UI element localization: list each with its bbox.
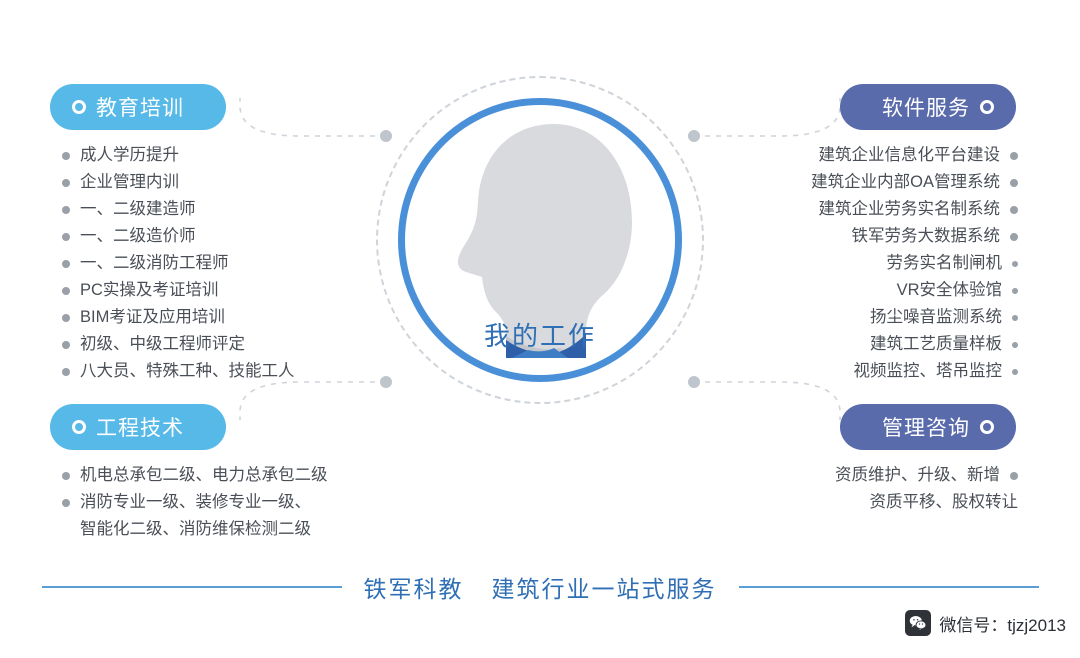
bullet-icon bbox=[62, 341, 70, 349]
list-item: 初级、中级工程师评定 bbox=[62, 331, 295, 358]
list-item: 劳务实名制闸机 bbox=[811, 250, 1018, 277]
footer-divider-left bbox=[42, 586, 342, 588]
wechat-label: 微信号：tjzj2013 bbox=[939, 611, 1066, 636]
software-list: 建筑企业信息化平台建设 建筑企业内部OA管理系统 建筑企业劳务实名制系统 铁军劳… bbox=[811, 142, 1018, 385]
bullet-icon bbox=[1012, 315, 1018, 321]
list-item: 八大员、特殊工种、技能工人 bbox=[62, 358, 295, 385]
bullet-icon bbox=[62, 179, 70, 187]
list-item: 机电总承包二级、电力总承包二级 bbox=[62, 462, 328, 489]
ring-dot-icon bbox=[980, 100, 994, 114]
bullet-icon bbox=[1010, 206, 1018, 214]
list-item-label: 劳务实名制闸机 bbox=[887, 250, 1003, 277]
footer-text: 铁军科教建筑行业一站式服务 bbox=[364, 570, 717, 604]
section-pill-management-label: 管理咨询 bbox=[882, 412, 970, 442]
bullet-icon bbox=[62, 472, 70, 480]
bullet-icon bbox=[1010, 152, 1018, 160]
engineering-list: 机电总承包二级、电力总承包二级 消防专业一级、装修专业一级、 智能化二级、消防维… bbox=[62, 462, 328, 543]
list-item-label: 一、二级建造师 bbox=[80, 196, 196, 223]
list-item-label: PC实操及考证培训 bbox=[80, 277, 218, 304]
list-item: 视频监控、塔吊监控 bbox=[811, 358, 1018, 385]
list-item: 资质平移、股权转让 bbox=[835, 489, 1018, 516]
list-item-label: 建筑企业信息化平台建设 bbox=[819, 142, 1001, 169]
list-item-label: VR安全体验馆 bbox=[897, 277, 1002, 304]
ring-dot-icon bbox=[72, 100, 86, 114]
bullet-icon bbox=[62, 314, 70, 322]
section-pill-software-label: 软件服务 bbox=[882, 92, 970, 122]
list-item: 一、二级消防工程师 bbox=[62, 250, 295, 277]
ring-dot-icon bbox=[980, 420, 994, 434]
list-item-label: 初级、中级工程师评定 bbox=[80, 331, 245, 358]
bullet-icon bbox=[1012, 261, 1018, 267]
list-item: 建筑企业内部OA管理系统 bbox=[811, 169, 1018, 196]
list-item: 企业管理内训 bbox=[62, 169, 295, 196]
list-item-label: 建筑企业劳务实名制系统 bbox=[819, 196, 1001, 223]
section-pill-education[interactable]: 教育培训 bbox=[50, 84, 226, 130]
bullet-icon bbox=[62, 287, 70, 295]
footer-tagline: 建筑行业一站式服务 bbox=[492, 576, 717, 602]
infographic-stage: 我的工作 教育培训 工程技术 软件服务 管理咨询 成人学历提升 企业管理内训 一… bbox=[0, 0, 1080, 658]
bullet-icon bbox=[62, 499, 70, 507]
bullet-icon bbox=[1010, 233, 1018, 241]
list-item: 成人学历提升 bbox=[62, 142, 295, 169]
footer-brand: 铁军科教 bbox=[364, 576, 464, 602]
list-item-label: 消防专业一级、装修专业一级、 智能化二级、消防维保检测二级 bbox=[80, 489, 311, 543]
bullet-icon bbox=[62, 368, 70, 376]
list-item-label: 建筑工艺质量样板 bbox=[870, 331, 1002, 358]
section-pill-engineering-label: 工程技术 bbox=[96, 412, 184, 442]
bullet-icon bbox=[1010, 179, 1018, 187]
list-item-label: 资质维护、升级、新增 bbox=[835, 462, 1000, 489]
bullet-icon bbox=[62, 260, 70, 268]
bullet-icon bbox=[62, 152, 70, 160]
footer-divider-right bbox=[739, 586, 1039, 588]
bullet-icon bbox=[62, 233, 70, 241]
section-pill-management[interactable]: 管理咨询 bbox=[840, 404, 1016, 450]
list-item-label: 视频监控、塔吊监控 bbox=[854, 358, 1003, 385]
center-graphic: 我的工作 bbox=[376, 76, 704, 404]
bullet-icon bbox=[62, 206, 70, 214]
management-list: 资质维护、升级、新增 资质平移、股权转让 bbox=[835, 462, 1018, 516]
section-pill-software[interactable]: 软件服务 bbox=[840, 84, 1016, 130]
list-item: 建筑企业信息化平台建设 bbox=[811, 142, 1018, 169]
list-item-label: 扬尘噪音监测系统 bbox=[870, 304, 1002, 331]
list-item-label: 建筑企业内部OA管理系统 bbox=[811, 169, 1000, 196]
ring-dot-icon bbox=[72, 420, 86, 434]
list-item: 消防专业一级、装修专业一级、 智能化二级、消防维保检测二级 bbox=[62, 489, 328, 543]
list-item-line: 消防专业一级、装修专业一级、 bbox=[80, 489, 311, 516]
bullet-icon bbox=[1012, 369, 1018, 375]
list-item-label: BIM考证及应用培训 bbox=[80, 304, 225, 331]
center-label: 我的工作 bbox=[376, 316, 704, 353]
bullet-icon bbox=[1012, 288, 1018, 294]
list-item-label: 成人学历提升 bbox=[80, 142, 179, 169]
list-item: 铁军劳务大数据系统 bbox=[811, 223, 1018, 250]
list-item-label: 企业管理内训 bbox=[80, 169, 179, 196]
list-item-label: 一、二级消防工程师 bbox=[80, 250, 229, 277]
wechat-icon bbox=[905, 610, 931, 636]
list-item: BIM考证及应用培训 bbox=[62, 304, 295, 331]
list-item-label: 一、二级造价师 bbox=[80, 223, 196, 250]
bullet-icon bbox=[1010, 472, 1018, 480]
list-item: 一、二级造价师 bbox=[62, 223, 295, 250]
list-item-label: 资质平移、股权转让 bbox=[870, 489, 1019, 516]
list-item: VR安全体验馆 bbox=[811, 277, 1018, 304]
list-item: 建筑工艺质量样板 bbox=[811, 331, 1018, 358]
section-pill-education-label: 教育培训 bbox=[96, 92, 184, 122]
section-pill-engineering[interactable]: 工程技术 bbox=[50, 404, 226, 450]
list-item: 建筑企业劳务实名制系统 bbox=[811, 196, 1018, 223]
list-item-label: 铁军劳务大数据系统 bbox=[852, 223, 1001, 250]
list-item: 资质维护、升级、新增 bbox=[835, 462, 1018, 489]
list-item-label: 机电总承包二级、电力总承包二级 bbox=[80, 462, 328, 489]
list-item: 扬尘噪音监测系统 bbox=[811, 304, 1018, 331]
list-item-label: 八大员、特殊工种、技能工人 bbox=[80, 358, 295, 385]
list-item: 一、二级建造师 bbox=[62, 196, 295, 223]
wechat-badge[interactable]: 微信号：tjzj2013 bbox=[905, 610, 1066, 636]
footer: 铁军科教建筑行业一站式服务 bbox=[0, 570, 1080, 604]
list-item: PC实操及考证培训 bbox=[62, 277, 295, 304]
education-list: 成人学历提升 企业管理内训 一、二级建造师 一、二级造价师 一、二级消防工程师 … bbox=[62, 142, 295, 385]
bullet-icon bbox=[1012, 342, 1018, 348]
list-item-line: 智能化二级、消防维保检测二级 bbox=[80, 516, 311, 543]
